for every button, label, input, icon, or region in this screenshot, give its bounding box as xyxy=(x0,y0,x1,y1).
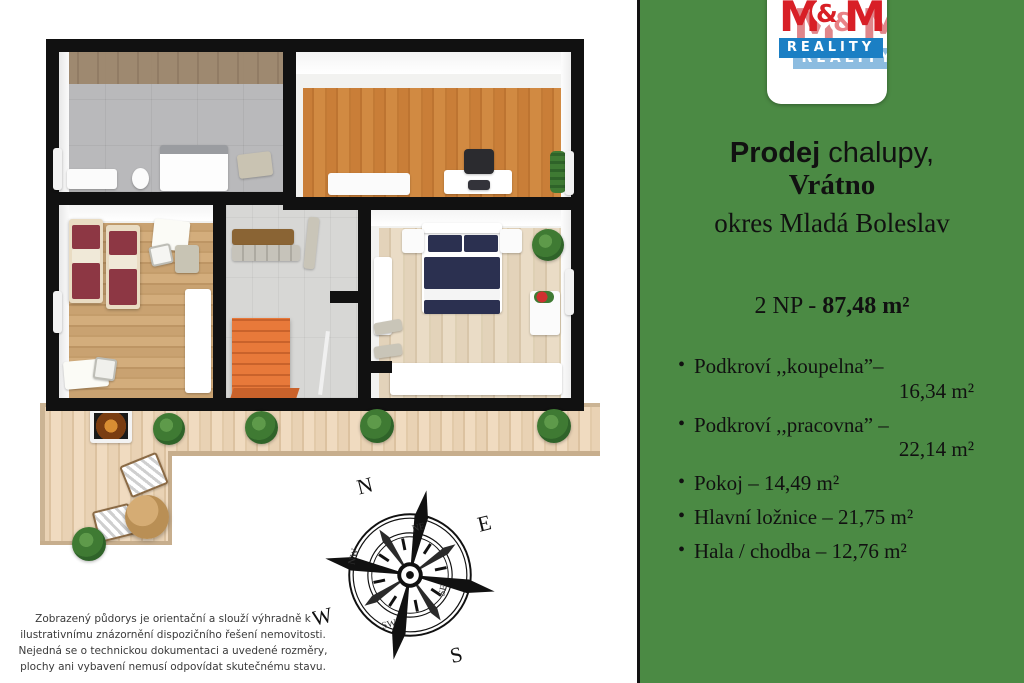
floorplan-panel: N E S W NE NW SE SW Zobrazený půdorys je… xyxy=(0,0,637,683)
pokoj-chair-bottom xyxy=(93,357,118,382)
disclaimer-line-1: Zobrazený půdorys je orientační a slouží… xyxy=(8,612,338,628)
hall-step-shelf xyxy=(232,245,300,261)
study-chair xyxy=(464,149,494,174)
room-list-item-0: •Podkroví ,,koupelna”– 16,34 m² xyxy=(678,354,1008,404)
compass-label-east: E xyxy=(475,510,494,536)
room-list-item-4: •Hala / chodba – 12,76 m² xyxy=(678,539,1008,564)
wall-bathroom-bottom xyxy=(59,192,296,205)
master-bed-runner-white xyxy=(424,289,500,300)
master-bed-duvet xyxy=(424,257,500,289)
pokoj-armchair xyxy=(175,245,199,273)
wall-exterior-bottom xyxy=(46,398,584,411)
bullet-icon: • xyxy=(678,505,694,529)
pokoj-window-left xyxy=(53,291,62,333)
room-name-4: •Hala / chodba – 12,76 m² xyxy=(678,539,1008,564)
wall-pokoj-hall xyxy=(213,205,226,398)
master-bed-runner-navy xyxy=(424,300,500,314)
logo-reality-bar: REALITY xyxy=(779,38,883,58)
bullet-icon: • xyxy=(678,413,694,437)
room-area-list: •Podkroví ,,koupelna”– 16,34 m² •Podkrov… xyxy=(678,354,1008,572)
bedroom-window-right xyxy=(565,269,574,315)
total-area-line: 2 NP - 87,48 m² xyxy=(640,293,1024,320)
room-area-0: 16,34 m² xyxy=(678,379,1008,404)
room-name-3: •Hlavní ložnice – 21,75 m² xyxy=(678,505,1008,530)
bathroom-window-ledge xyxy=(53,148,62,190)
wall-exterior-left xyxy=(46,39,59,411)
room-list-item-1: •Podkroví ,,pracovna” – 22,14 m² xyxy=(678,413,1008,463)
disclaimer-line-2: ilustrativnímu znázornění dispozičního ř… xyxy=(8,628,338,644)
mm-reality-logo: M M & REALITY M M & REALITY xyxy=(767,0,887,104)
panel-divider xyxy=(637,0,640,683)
compass-label-south: S xyxy=(448,642,465,668)
terrace-plant-3 xyxy=(245,411,278,444)
wall-exterior-right xyxy=(571,39,584,411)
wall-bathroom-study xyxy=(283,52,296,210)
floorplan-drawing xyxy=(40,33,600,553)
compass-label-north: N xyxy=(354,477,375,499)
bullet-icon: • xyxy=(678,354,694,378)
bullet-icon: • xyxy=(678,471,694,495)
disclaimer-line-4: plochy ani vybavení nemusí odpovídat sku… xyxy=(8,660,338,676)
headline-prodej: Prodej xyxy=(730,137,820,169)
logo-ampersand: & xyxy=(816,1,838,26)
nightstand-left xyxy=(402,229,424,253)
master-bed-headboard xyxy=(422,223,502,233)
listing-headline: Prodej chalupy, Vrátno okres Mladá Boles… xyxy=(640,137,1024,238)
room-name-0: •Podkroví ,,koupelna”– xyxy=(678,354,1008,379)
area-value: 87,48 m² xyxy=(822,293,909,319)
room-name-2: •Pokoj – 14,49 m² xyxy=(678,471,1008,496)
wall-study-bottom xyxy=(296,197,571,210)
vanity-panel xyxy=(237,151,274,179)
headline-chalupy: chalupy, xyxy=(820,137,934,169)
study-sofa xyxy=(328,173,410,195)
headline-district: okres Mladá Boleslav xyxy=(640,208,1024,238)
master-bed-pillow-left xyxy=(428,235,462,252)
hall-console-table xyxy=(232,229,294,245)
compass-label-northeast: NE xyxy=(411,521,426,535)
room-name-1: •Podkroví ,,pracovna” – xyxy=(678,413,1008,438)
staircase xyxy=(232,318,290,396)
bedroom-bench xyxy=(390,363,562,395)
shower-enclosure xyxy=(160,145,228,191)
info-panel: M M & REALITY M M & REALITY Prodej chalu… xyxy=(640,0,1024,683)
disclaimer-line-3: Nejedná se o technickou dokumentaci a uv… xyxy=(8,644,338,660)
floorplan-listing-image: N E S W NE NW SE SW Zobrazený půdorys je… xyxy=(0,0,1024,683)
terrace-wall-picture xyxy=(90,409,132,443)
toilet xyxy=(132,168,149,189)
bedroom-flowers xyxy=(534,291,554,303)
wall-doorjamb-bedroom xyxy=(358,361,392,373)
terrace-plant-4 xyxy=(360,409,394,443)
bullet-icon: • xyxy=(678,539,694,563)
wall-exterior-top xyxy=(46,39,584,52)
logo-front-layer: M M & REALITY xyxy=(779,0,883,66)
study-monitor xyxy=(468,180,490,190)
bedroom-plant xyxy=(532,229,564,261)
disclaimer-text: Zobrazený půdorys je orientační a slouží… xyxy=(8,612,338,676)
study-tall-plant xyxy=(550,151,566,193)
room-list-item-3: •Hlavní ložnice – 21,75 m² xyxy=(678,505,1008,530)
terrace-plant-1 xyxy=(72,527,106,561)
compass-rose: N E S W NE NW SE SW xyxy=(312,477,508,673)
terrace-plant-5 xyxy=(537,409,571,443)
headline-place: Vrátno xyxy=(640,169,1024,201)
terrace-round-table xyxy=(125,495,169,539)
room-area-1: 22,14 m² xyxy=(678,437,1008,462)
headline-line-1: Prodej chalupy, xyxy=(640,137,1024,169)
master-bed-pillow-right xyxy=(464,235,498,252)
nightstand-right xyxy=(500,229,522,253)
wall-doorjamb-hall xyxy=(330,291,358,303)
pokoj-wardrobe xyxy=(185,289,211,393)
study-window-right xyxy=(565,151,574,195)
area-floor-label: 2 NP - xyxy=(755,293,823,319)
stair-landing xyxy=(230,388,299,398)
terrace-plant-2 xyxy=(153,413,185,445)
room-list-item-2: •Pokoj – 14,49 m² xyxy=(678,471,1008,496)
bathtub xyxy=(67,169,117,189)
